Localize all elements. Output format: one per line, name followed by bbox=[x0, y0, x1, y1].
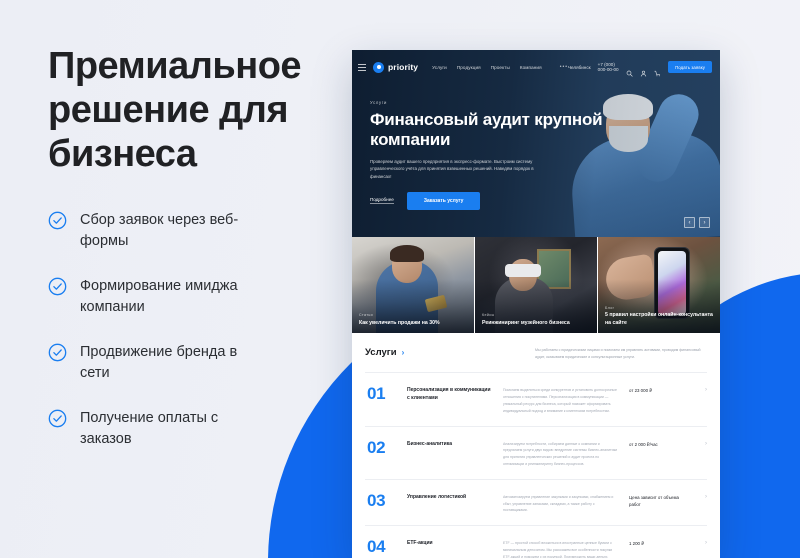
menu-icon[interactable] bbox=[358, 64, 366, 71]
chevron-right-icon: › bbox=[402, 348, 405, 357]
service-name: ETF-акции bbox=[407, 537, 493, 548]
search-icon[interactable] bbox=[626, 64, 633, 71]
header-cta-button[interactable]: Подать заявку bbox=[668, 61, 712, 73]
chevron-right-icon[interactable]: › bbox=[697, 491, 707, 500]
card-title: Реинжиниринг музейного бизнеса bbox=[482, 320, 590, 327]
service-name: Персонализация в коммуникации с клиентам… bbox=[407, 384, 493, 403]
service-price: Цена зависит от объема работ bbox=[629, 491, 687, 508]
chevron-right-icon[interactable]: › bbox=[697, 384, 707, 393]
article-card[interactable]: Блог 5 правил настройки онлайн-консульта… bbox=[597, 237, 720, 333]
user-icon[interactable] bbox=[640, 64, 647, 71]
left-content-column: Премиальное решение для бизнеса Сбор зая… bbox=[0, 0, 330, 558]
article-card[interactable]: Кейсы Реинжиниринг музейного бизнеса bbox=[474, 237, 597, 333]
article-cards-strip: Статьи Как увеличить продажи на 30% Кейс… bbox=[352, 237, 720, 333]
service-number: 01 bbox=[367, 384, 397, 404]
list-item: Получение оплаты с заказов bbox=[48, 408, 310, 450]
card-category: Блог bbox=[605, 306, 713, 310]
service-number: 03 bbox=[367, 491, 397, 511]
phone-number[interactable]: +7 (000) 000-00-00 bbox=[598, 62, 619, 72]
nav-link-produkciya[interactable]: Продукция bbox=[457, 65, 481, 70]
table-row[interactable]: 03 Управление логистикой Автоматизируем … bbox=[365, 479, 707, 525]
list-item: Сбор заявок через веб-формы bbox=[48, 210, 310, 252]
logo-text: priority bbox=[388, 62, 418, 72]
hero-order-button[interactable]: Заказать услугу bbox=[407, 192, 481, 210]
website-mockup: priority Услуги Продукция Проекты Компан… bbox=[352, 50, 720, 558]
feature-list: Сбор заявок через веб-формы Формирование… bbox=[48, 210, 310, 450]
service-description: Помогаем выделиться среди конкурентов и … bbox=[503, 384, 619, 414]
check-circle-icon bbox=[48, 277, 67, 296]
hero-title: Финансовый аудит крупной компании bbox=[370, 110, 605, 150]
article-card[interactable]: Статьи Как увеличить продажи на 30% bbox=[352, 237, 474, 333]
services-title[interactable]: Услуги › bbox=[365, 347, 404, 358]
chevron-right-icon[interactable]: › bbox=[697, 537, 707, 546]
list-item: Формирование имиджа компании bbox=[48, 276, 310, 318]
services-title-label: Услуги bbox=[365, 347, 397, 358]
service-price: от 23 000 ₽ bbox=[629, 384, 687, 394]
feature-label: Продвижение бренда в сети bbox=[80, 342, 270, 384]
slider-next-icon[interactable]: › bbox=[699, 217, 710, 228]
hero-kicker: Услуги bbox=[370, 100, 605, 105]
slider-prev-icon[interactable]: ‹ bbox=[684, 217, 695, 228]
site-navbar: priority Услуги Продукция Проекты Компан… bbox=[352, 58, 720, 76]
card-category: Кейсы bbox=[482, 313, 590, 317]
service-description: Анализируем потребности, собираем данные… bbox=[503, 438, 619, 468]
hero-subtitle: Проверяем аудит вашего предприятия в экс… bbox=[370, 158, 552, 181]
cart-icon[interactable] bbox=[654, 64, 661, 71]
page-title: Премиальное решение для бизнеса bbox=[48, 44, 310, 176]
site-logo[interactable]: priority bbox=[373, 62, 418, 73]
services-section: Услуги › Мы работаем с юридическими лица… bbox=[352, 333, 720, 558]
card-text: Блог 5 правил настройки онлайн-консульта… bbox=[605, 306, 713, 327]
hero-content: Услуги Финансовый аудит крупной компании… bbox=[370, 100, 605, 210]
nav-link-proekty[interactable]: Проекты bbox=[491, 65, 510, 70]
card-text: Кейсы Реинжиниринг музейного бизнеса bbox=[482, 313, 590, 327]
navbar-right: Челябинск +7 (000) 000-00-00 Подать заяв… bbox=[568, 61, 712, 73]
logo-mark-icon bbox=[373, 62, 384, 73]
card-title: 5 правил настройки онлайн-консультанта н… bbox=[605, 312, 713, 327]
hero-actions: Подробнее Заказать услугу bbox=[370, 192, 605, 210]
city-selector[interactable]: Челябинск bbox=[568, 65, 591, 70]
hero-slider-controls: ‹ › bbox=[684, 217, 710, 228]
service-description: ETF — простой способ вложиться в иностра… bbox=[503, 537, 619, 558]
card-category: Статьи bbox=[359, 313, 467, 317]
check-circle-icon bbox=[48, 409, 67, 428]
hero-section: priority Услуги Продукция Проекты Компан… bbox=[352, 50, 720, 237]
service-number: 04 bbox=[367, 537, 397, 557]
card-title: Как увеличить продажи на 30% bbox=[359, 320, 467, 327]
table-row[interactable]: 02 Бизнес-аналитика Анализируем потребно… bbox=[365, 426, 707, 479]
chevron-right-icon[interactable]: › bbox=[697, 438, 707, 447]
card-text: Статьи Как увеличить продажи на 30% bbox=[359, 313, 467, 327]
check-circle-icon bbox=[48, 211, 67, 230]
services-header: Услуги › Мы работаем с юридическими лица… bbox=[365, 347, 707, 360]
check-circle-icon bbox=[48, 343, 67, 362]
service-number: 02 bbox=[367, 438, 397, 458]
hero-details-link[interactable]: Подробнее bbox=[370, 197, 394, 204]
service-price: от 2 000 ₽/час bbox=[629, 438, 687, 448]
page-root: Премиальное решение для бизнеса Сбор зая… bbox=[0, 0, 800, 558]
services-note: Мы работаем с юридическими лицами и помо… bbox=[535, 347, 707, 360]
table-row[interactable]: 04 ETF-акции ETF — простой способ вложит… bbox=[365, 525, 707, 558]
service-name: Бизнес-аналитика bbox=[407, 438, 493, 449]
nav-more-icon[interactable]: ••• bbox=[560, 64, 568, 70]
nav-link-uslugi[interactable]: Услуги bbox=[432, 65, 447, 70]
table-row[interactable]: 01 Персонализация в коммуникации с клиен… bbox=[365, 372, 707, 425]
nav-link-kompaniya[interactable]: Компания bbox=[520, 65, 542, 70]
feature-label: Получение оплаты с заказов bbox=[80, 408, 270, 450]
nav-links: Услуги Продукция Проекты Компания ••• bbox=[432, 64, 568, 70]
feature-label: Сбор заявок через веб-формы bbox=[80, 210, 270, 252]
service-price: 1 200 ₽ bbox=[629, 537, 687, 547]
service-name: Управление логистикой bbox=[407, 491, 493, 502]
list-item: Продвижение бренда в сети bbox=[48, 342, 310, 384]
service-description: Автоматизируем управление закупками и за… bbox=[503, 491, 619, 514]
feature-label: Формирование имиджа компании bbox=[80, 276, 270, 318]
